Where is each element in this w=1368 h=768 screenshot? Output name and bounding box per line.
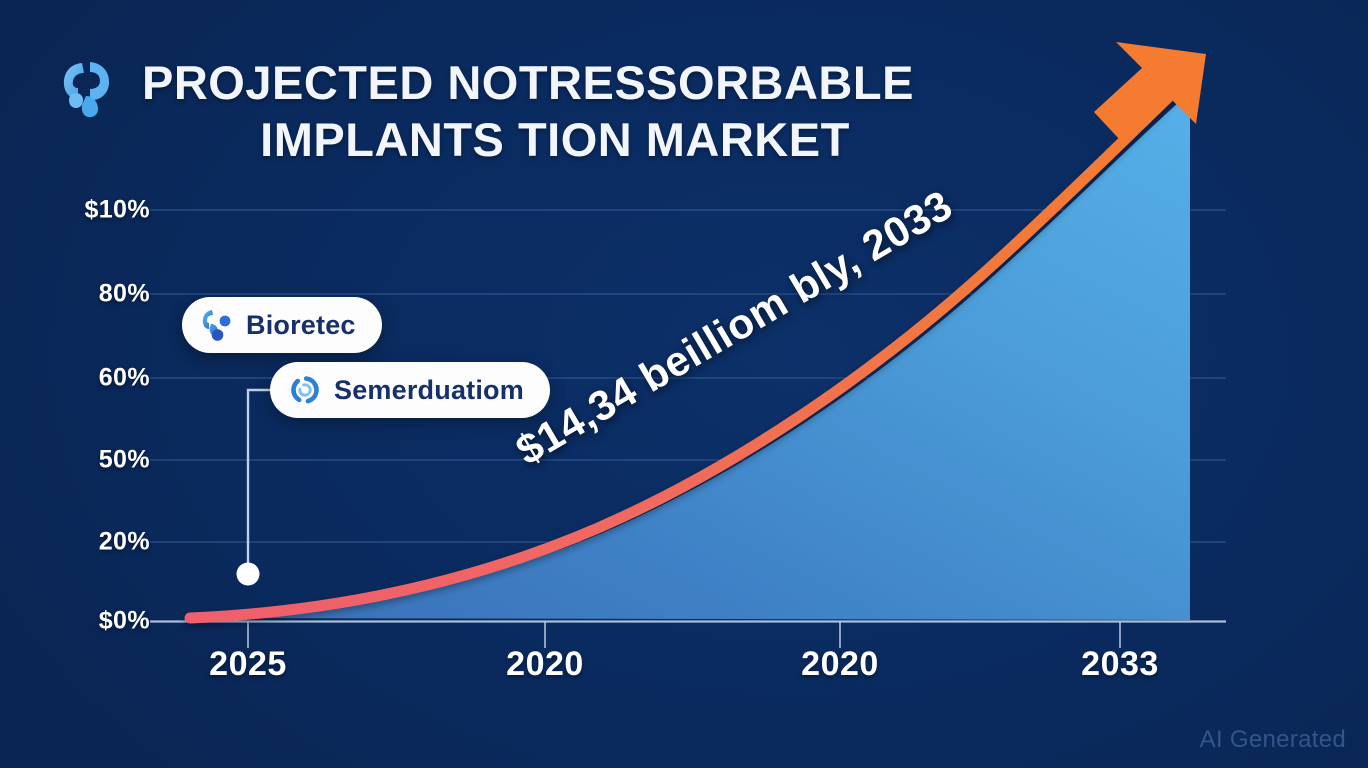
legend-label-bioretec: Bioretec: [246, 310, 356, 341]
legend-label-semerduatiom: Semerduatiom: [334, 375, 524, 406]
legend-item-semerduatiom[interactable]: Semerduatiom: [270, 362, 550, 418]
x-axis-tick-3: 2033: [1081, 645, 1159, 684]
legend-item-bioretec[interactable]: Bioretec: [182, 297, 382, 353]
x-axis-tick-0: 2025: [209, 645, 287, 684]
ring-spinner-icon: [288, 373, 322, 407]
x-axis-tick-2: 2020: [801, 645, 879, 684]
x-axis-labels: 2025 2020 2020 2033: [0, 0, 1368, 768]
molecule-icon: [200, 308, 234, 342]
ai-generated-watermark: AI Generated: [1200, 726, 1346, 754]
x-axis-tick-1: 2020: [506, 645, 584, 684]
chart-canvas: $10% 80% 60% 50% 20% $0% 2025 2020 2020 …: [0, 0, 1368, 768]
